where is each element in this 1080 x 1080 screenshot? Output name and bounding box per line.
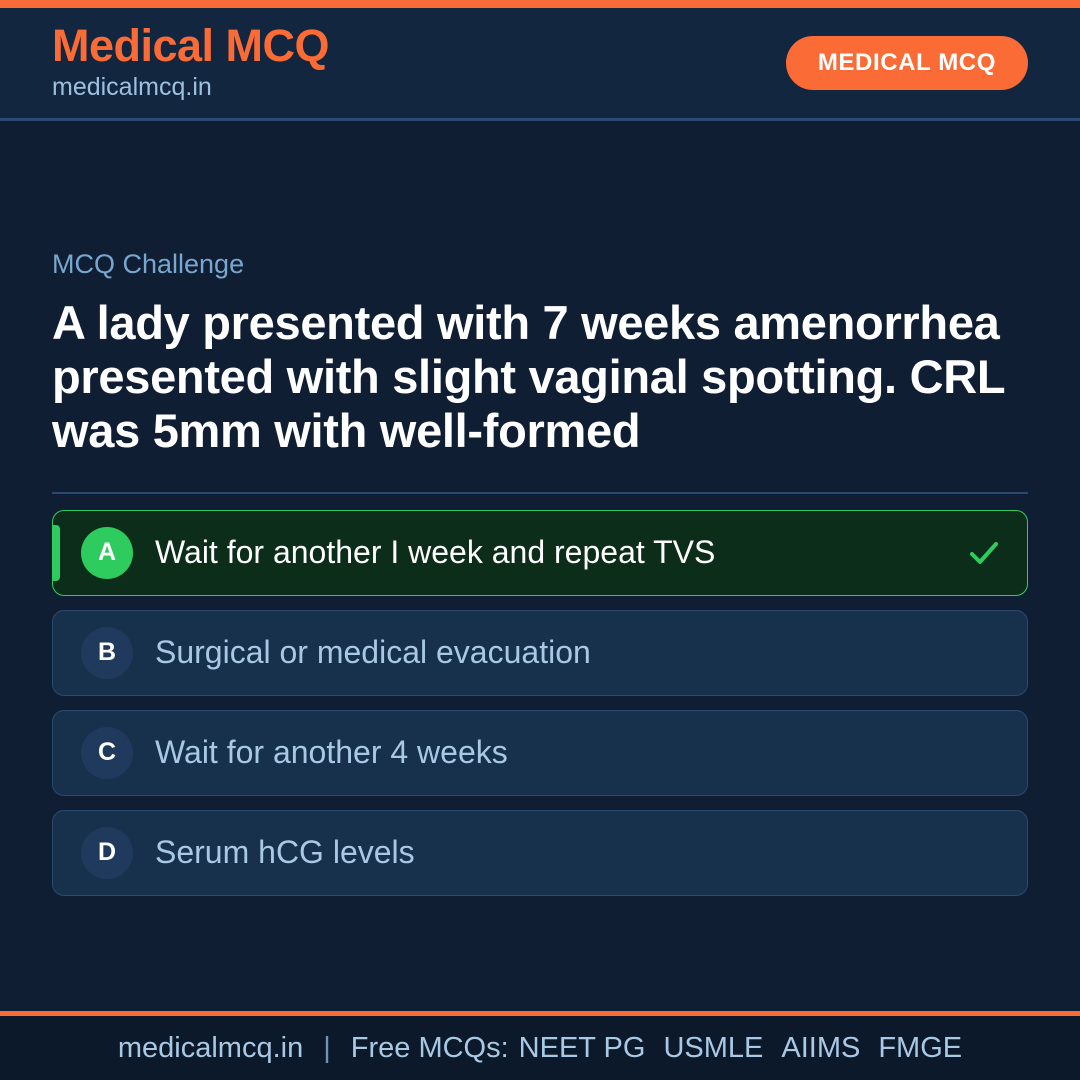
brand-url: medicalmcq.in [52,71,329,104]
brand-title: Medical MCQ [52,22,329,69]
question-text: A lady presented with 7 weeks amenorrhea… [52,296,1028,458]
option-b[interactable]: BSurgical or medical evacuation [52,610,1028,696]
brand: Medical MCQ medicalmcq.in [52,22,329,104]
header-badge: MEDICAL MCQ [786,36,1028,90]
option-c[interactable]: CWait for another 4 weeks [52,710,1028,796]
option-a[interactable]: AWait for another I week and repeat TVS [52,510,1028,596]
footer-exams-label: Free MCQs: [351,1032,509,1065]
footer-exam: AIIMS [781,1032,860,1065]
top-accent-bar [0,0,1080,8]
header: Medical MCQ medicalmcq.in MEDICAL MCQ [0,8,1080,121]
option-label: Wait for another I week and repeat TVS [155,533,955,571]
footer-exam: USMLE [663,1032,763,1065]
option-d[interactable]: DSerum hCG levels [52,810,1028,896]
footer-exam-list: NEET PGUSMLEAIIMSFMGE [519,1032,962,1065]
footer-site: medicalmcq.in [118,1032,303,1065]
footer: medicalmcq.in | Free MCQs: NEET PGUSMLEA… [0,1011,1080,1080]
option-letter-badge: B [81,627,133,679]
option-letter-badge: D [81,827,133,879]
mcq-card: Medical MCQ medicalmcq.in MEDICAL MCQ MC… [0,0,1080,1080]
footer-exam: NEET PG [519,1032,646,1065]
option-label: Wait for another 4 weeks [155,733,1001,771]
footer-separator: | [323,1032,331,1065]
correct-accent-bar [53,525,60,581]
check-icon [967,536,1001,570]
footer-text: medicalmcq.in | Free MCQs: NEET PGUSMLEA… [118,1032,962,1065]
option-letter-badge: A [81,527,133,579]
main-content: MCQ Challenge A lady presented with 7 we… [0,121,1080,1011]
option-label: Surgical or medical evacuation [155,633,1001,671]
question-divider [52,492,1028,494]
option-label: Serum hCG levels [155,833,1001,871]
option-letter-badge: C [81,727,133,779]
footer-exam: FMGE [878,1032,962,1065]
eyebrow-label: MCQ Challenge [52,248,1028,280]
options-list: AWait for another I week and repeat TVSB… [52,510,1028,896]
